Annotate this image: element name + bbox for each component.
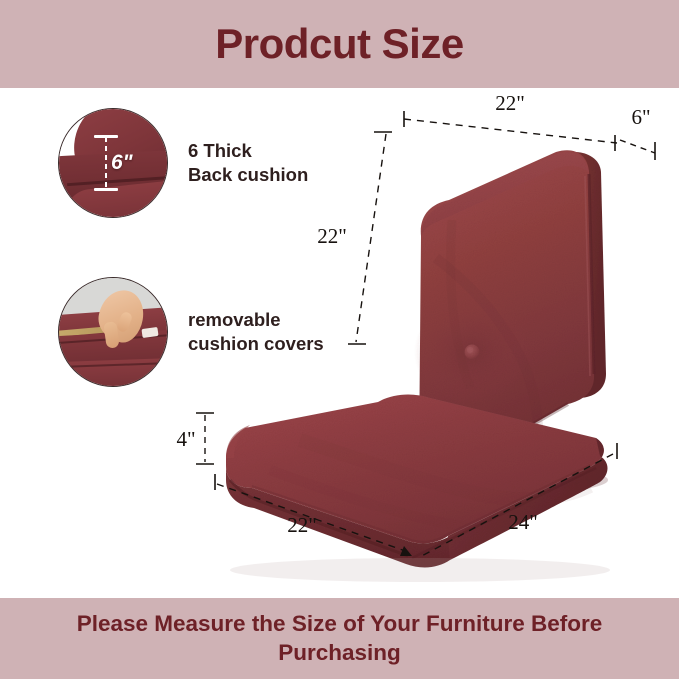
- dimension-seat-thickness: [196, 413, 214, 464]
- page-title: Prodcut Size: [215, 23, 463, 65]
- dimension-back-height: [348, 132, 392, 344]
- dimension-label-seat-width: 24": [508, 510, 538, 534]
- dimension-back-width: [404, 111, 617, 151]
- dimension-label-back-height: 22": [317, 224, 347, 248]
- cushion-diagram: 22" 6" 22" 4" 22": [0, 88, 679, 598]
- product-size-infographic: Prodcut Size 6" 6 Thick Back cushion: [0, 0, 679, 679]
- dimension-label-seat-depth: 22": [287, 513, 317, 537]
- footer-banner: Please Measure the Size of Your Furnitur…: [0, 598, 679, 679]
- header-banner: Prodcut Size: [0, 0, 679, 88]
- dimension-label-back-width: 22": [495, 91, 525, 115]
- dimension-back-depth: [620, 140, 655, 160]
- seat-cushion: [226, 395, 608, 568]
- footer-message: Please Measure the Size of Your Furnitur…: [20, 610, 660, 666]
- dimension-label-back-depth: 6": [631, 105, 650, 129]
- dimension-label-seat-thickness: 4": [176, 427, 195, 451]
